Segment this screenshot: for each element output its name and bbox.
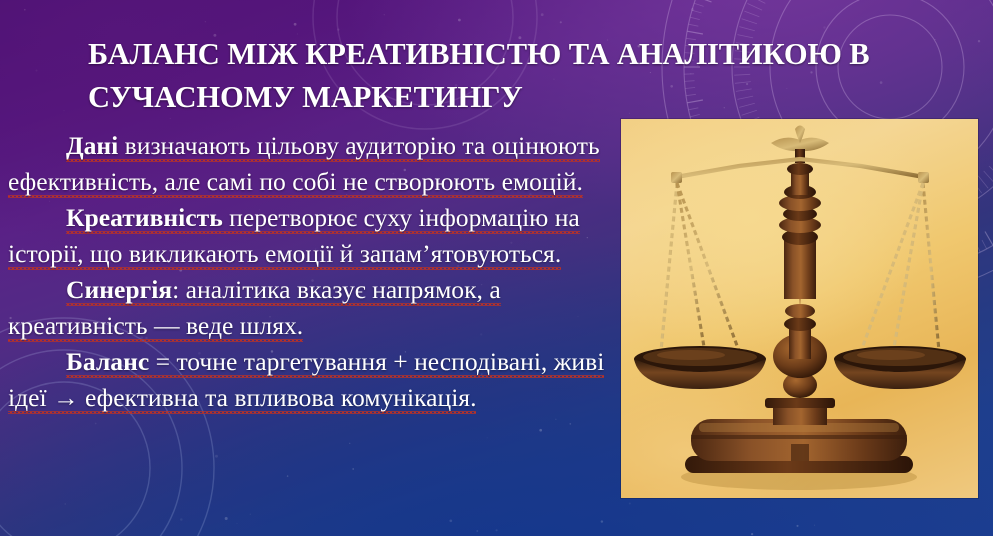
scale-chain-right — [861, 183, 939, 353]
presentation-slide: 170180190200210 БАЛАНС МІЖ КРЕАТИВНІСТЮ … — [0, 0, 993, 536]
slide-title: БАЛАНС МІЖ КРЕАТИВНІСТЮ ТА АНАЛІТИКОЮ В … — [88, 33, 888, 120]
paragraph-lead: Креативність — [66, 203, 223, 234]
paragraph-lead: Дані — [66, 131, 118, 162]
slide-body-text: Дані визначають цільову аудиторію та оці… — [8, 128, 616, 416]
scale-pan-right — [834, 346, 966, 389]
paragraph-lead: Баланс — [66, 347, 149, 378]
scale-pan-left — [634, 346, 766, 389]
body-paragraph: Синергія: аналітика вказує напрямок, а к… — [8, 272, 616, 344]
scale-chain-left — [661, 183, 739, 353]
balance-scale-image — [621, 119, 978, 498]
body-paragraph: Креативність перетворює суху інформацію … — [8, 200, 616, 272]
body-paragraph: Дані визначають цільову аудиторію та оці… — [8, 128, 616, 200]
body-paragraph: Баланс = точне таргетування + несподіван… — [8, 344, 616, 416]
balance-scale-icon — [621, 119, 978, 498]
scale-column — [773, 163, 827, 398]
scale-base — [685, 398, 913, 473]
paragraph-lead: Синергія — [66, 275, 172, 306]
